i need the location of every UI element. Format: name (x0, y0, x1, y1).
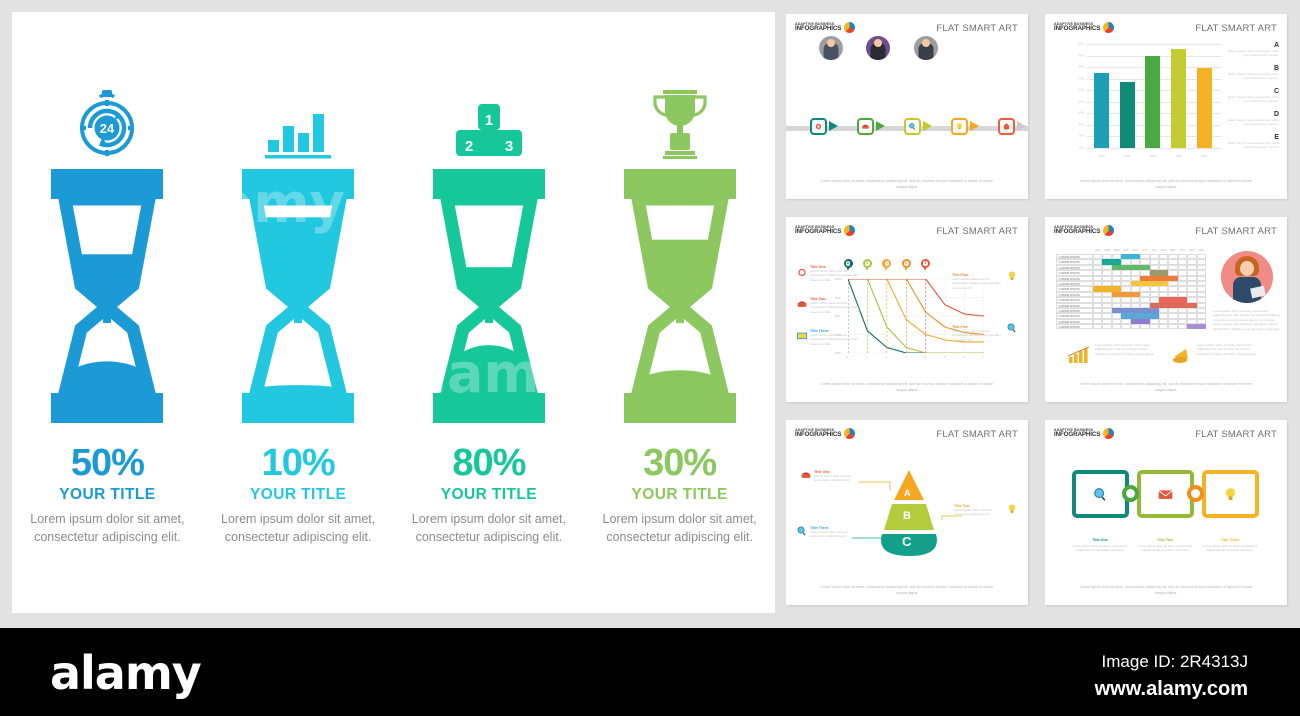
bar-ytick: 50% (1079, 100, 1084, 103)
brand-line-2: INFOGRAPHICS (795, 26, 841, 32)
line-xtick: 7 (983, 355, 985, 359)
monitor-icon (796, 329, 808, 341)
slide-footer: Lorem ipsum dolor sit amet, consectetur … (786, 382, 1028, 393)
hourglass-icon (614, 167, 746, 425)
slide-footer: Lorem ipsum dolor sit amet, consectetur … (786, 585, 1028, 596)
process-item (849, 145, 889, 147)
brand-logo: ADAPTIVE BUSINESS INFOGRAPHICS (795, 22, 855, 33)
podium-icon: 1 2 3 (454, 102, 524, 160)
stopwatch-24h-icon: 24 (76, 88, 138, 160)
item-body: Lorem ipsum dolor sit amet consectetur a… (810, 333, 862, 346)
thumbnail-process[interactable]: ADAPTIVE BUSINESS INFOGRAPHICS FLAT SMAR… (786, 14, 1028, 199)
stat-cell-4: 30% YOUR TITLE Lorem ipsum dolor sit ame… (584, 444, 775, 546)
hourglass-cell-1 (12, 167, 203, 429)
bar (1197, 68, 1212, 148)
legend-letter: E (1223, 134, 1279, 141)
process-node-C[interactable] (904, 118, 921, 135)
slide-footer: Lorem ipsum dolor sit amet, consectetur … (786, 179, 1028, 190)
brand-line-2: INFOGRAPHICS (1054, 432, 1100, 438)
process-arrow (829, 121, 838, 131)
brand-logo: ADAPTIVE BUSINESS INFOGRAPHICS (1054, 225, 1114, 236)
bar (1120, 82, 1135, 148)
gantt-cell (1197, 324, 1206, 329)
footer-bar: alamy Image ID: 2R4313J www.alamy.com (0, 628, 1300, 716)
gantt-cell (1140, 324, 1149, 329)
icon-cell-2 (203, 60, 394, 160)
process-node-E[interactable] (998, 118, 1015, 135)
box-connector-ring (1187, 485, 1204, 502)
stat-percent: 50% (20, 444, 195, 484)
slide-header: FLAT SMART ART (1195, 23, 1277, 34)
hourglass-icon (232, 167, 364, 425)
legend-body: Etiam rhoncus maecenas tempus, tellus eg… (1223, 95, 1279, 103)
legend-letter: C (1223, 88, 1279, 95)
pyramid-connectors (786, 420, 1028, 605)
map-pin-E[interactable]: E (921, 259, 930, 271)
brand-logo: ADAPTIVE BUSINESS INFOGRAPHICS (1054, 428, 1114, 439)
thumbnail-gantt[interactable]: ADAPTIVE BUSINESS INFOGRAPHICS FLAT SMAR… (1045, 217, 1287, 402)
box-body: Lorem ipsum dolor sit amet, consectetur … (1133, 544, 1197, 553)
box-2[interactable] (1137, 470, 1194, 518)
bar-ytick: 40% (1079, 112, 1084, 115)
legend-body: Etiam rhoncus maecenas tempus, tellus eg… (1223, 141, 1279, 149)
megaphone-icon (1171, 345, 1193, 365)
thumbnail-pyramid[interactable]: ADAPTIVE BUSINESS INFOGRAPHICS FLAT SMAR… (786, 420, 1028, 605)
brand-logo: ADAPTIVE BUSINESS INFOGRAPHICS (795, 225, 855, 236)
hourglass-row (12, 167, 775, 429)
gantt-cell (1112, 324, 1121, 329)
icon-cell-3: 1 2 3 (394, 60, 585, 160)
legend-item: BEtiam rhoncus maecenas tempus, tellus e… (1223, 65, 1279, 80)
slide-footer: Lorem ipsum dolor sit amet, consectetur … (1045, 179, 1287, 190)
stat-body: Lorem ipsum dolor sit amet, consectetur … (402, 511, 577, 547)
map-pin-B[interactable]: B (863, 259, 872, 271)
stat-title: YOUR TITLE (592, 486, 767, 504)
stat-cell-3: 80% YOUR TITLE Lorem ipsum dolor sit ame… (394, 444, 585, 546)
gantt-row-label: LOREM IPSUM (1056, 324, 1093, 329)
box-caption: Title OneLorem ipsum dolor sit amet, con… (1068, 538, 1132, 553)
gantt-cell (1131, 324, 1140, 329)
avatar (866, 36, 890, 60)
bar-xtick: 2015 (1145, 155, 1160, 158)
legend-item: EEtiam rhoncus maecenas tempus, tellus e… (1223, 134, 1279, 149)
slide-header: FLAT SMART ART (936, 226, 1018, 237)
line-right-item: Title FourLorem ipsum dolor sit amet con… (952, 273, 1004, 290)
legend-letter: A (1223, 42, 1279, 49)
bar-chart-bars (1089, 44, 1217, 148)
hourglass-cell-2 (203, 167, 394, 429)
bar-chart-xlabels: 20132014201520162017 (1089, 155, 1217, 158)
gantt-cell (1121, 324, 1130, 329)
avatar (1221, 251, 1273, 303)
box-1[interactable] (1072, 470, 1129, 518)
pie-chart-logo-icon (844, 22, 855, 33)
item-body: Lorem ipsum dolor sit amet consectetur a… (952, 329, 1004, 342)
bar-ytick: 10% (1079, 147, 1084, 150)
process-item (802, 145, 842, 147)
legend-item: CEtiam rhoncus maecenas tempus, tellus e… (1223, 88, 1279, 103)
telephone-icon (796, 297, 808, 309)
avatar (819, 36, 843, 60)
hourglass-icon (41, 167, 173, 425)
pie-chart-logo-icon (844, 225, 855, 236)
pie-chart-logo-icon (1103, 22, 1114, 33)
hourglass-icon (423, 167, 555, 425)
bar-ytick: 30% (1079, 123, 1084, 126)
person-body: Lorem ipsum dolor sit amet, consectetur … (1213, 309, 1281, 331)
gantt-cell (1178, 324, 1187, 329)
box-body: Lorem ipsum dolor sit amet, consectetur … (1198, 544, 1262, 553)
legend-item: AEtiam rhoncus maecenas tempus, tellus e… (1223, 42, 1279, 57)
note-body: Lorem ipsum dolor sit amet, consectetur … (1095, 343, 1157, 356)
line-xtick: 6 (963, 355, 965, 359)
box-caption: Title TwoLorem ipsum dolor sit amet, con… (1133, 538, 1197, 553)
gantt-cell (1150, 324, 1159, 329)
slide-footer: Lorem ipsum dolor sit amet, consectetur … (1045, 382, 1287, 393)
stat-percent: 30% (592, 444, 767, 484)
thumbnail-boxes[interactable]: ADAPTIVE BUSINESS INFOGRAPHICS FLAT SMAR… (1045, 420, 1287, 605)
lightbulb-icon (1006, 269, 1018, 281)
stat-text-row: 50% YOUR TITLE Lorem ipsum dolor sit ame… (12, 444, 775, 546)
stat-title: YOUR TITLE (211, 486, 386, 504)
image-id: Image ID: 2R4313J (1095, 650, 1248, 675)
line-xtick: 2 (885, 355, 887, 359)
box-3[interactable] (1202, 470, 1259, 518)
process-arrow (923, 121, 932, 131)
podium-label-3: 3 (505, 138, 513, 155)
bar-ytick: 70% (1079, 77, 1084, 80)
icon-row: 24 1 2 3 (12, 60, 775, 160)
podium-label-1: 1 (485, 112, 493, 129)
main-slide-panel: 24 1 2 3 (12, 12, 775, 613)
legend-body: Etiam rhoncus maecenas tempus, tellus eg… (1223, 49, 1279, 57)
stat-body: Lorem ipsum dolor sit amet, consectetur … (211, 511, 386, 547)
gantt-table: JANFEBMARAPRMAYJUNJULAUGSEPOCTNOVDECLORE… (1056, 248, 1206, 329)
line-left-item: Title OneLorem ipsum dolor sit amet cons… (810, 265, 862, 282)
process-node-A[interactable] (810, 118, 827, 135)
thumbnail-bar-chart[interactable]: ADAPTIVE BUSINESS INFOGRAPHICS FLAT SMAR… (1045, 14, 1287, 199)
line-right-item: Title FiveLorem ipsum dolor sit amet con… (952, 325, 1004, 342)
line-xtick: 1 (866, 355, 868, 359)
brand-logo: ADAPTIVE BUSINESS INFOGRAPHICS (1054, 22, 1114, 33)
alarm-clock-icon (796, 265, 808, 277)
bar-chart-icon (265, 108, 331, 160)
legend-body: Etiam rhoncus maecenas tempus, tellus eg… (1223, 72, 1279, 80)
gantt-row: LOREM IPSUM (1056, 324, 1206, 329)
gantt-cell (1159, 324, 1168, 329)
line-ytick: 60% (835, 351, 841, 355)
bar-xtick: 2017 (1197, 155, 1212, 158)
stat-percent: 80% (402, 444, 577, 484)
stat-cell-2: 10% YOUR TITLE Lorem ipsum dolor sit ame… (203, 444, 394, 546)
stat-percent: 10% (211, 444, 386, 484)
stat-title: YOUR TITLE (20, 486, 195, 504)
line-ytick: 80% (835, 314, 841, 318)
stopwatch-label: 24 (100, 121, 115, 136)
gantt-cell (1168, 324, 1177, 329)
icon-cell-4 (584, 60, 775, 160)
avatar (914, 36, 938, 60)
slide-header: FLAT SMART ART (1195, 226, 1277, 237)
gantt-cell (1187, 324, 1196, 329)
bar-ytick: 80% (1079, 66, 1084, 69)
brand-line-2: INFOGRAPHICS (1054, 26, 1100, 32)
item-body: Lorem ipsum dolor sit amet consectetur a… (810, 301, 862, 314)
process-arrow (1017, 121, 1026, 131)
stat-body: Lorem ipsum dolor sit amet, consectetur … (20, 511, 195, 547)
trophy-icon (649, 88, 711, 160)
process-item (990, 145, 1028, 147)
slide-header: FLAT SMART ART (936, 23, 1018, 34)
legend-body: Etiam rhoncus maecenas tempus, tellus eg… (1223, 118, 1279, 126)
legend-letter: B (1223, 65, 1279, 72)
process-node-D[interactable] (951, 118, 968, 135)
legend-letter: D (1223, 111, 1279, 118)
bar (1094, 73, 1109, 148)
process-arrow (970, 121, 979, 131)
bar (1145, 56, 1160, 148)
separator-band (0, 613, 1300, 628)
item-body: Lorem ipsum dolor sit amet consectetur a… (810, 269, 862, 282)
page-root: 24 1 2 3 (0, 0, 1300, 716)
process-arrow (876, 121, 885, 131)
hourglass-cell-4 (584, 167, 775, 429)
stat-cell-1: 50% YOUR TITLE Lorem ipsum dolor sit ame… (12, 444, 203, 546)
bar-xtick: 2013 (1094, 155, 1109, 158)
process-item (896, 145, 936, 147)
line-xtick: 4 (924, 355, 926, 359)
box-connector-ring (1122, 485, 1139, 502)
line-xtick: 0 (847, 355, 849, 359)
legend-item: DEtiam rhoncus maecenas tempus, tellus e… (1223, 111, 1279, 126)
stat-title: YOUR TITLE (402, 486, 577, 504)
brand-line-2: INFOGRAPHICS (795, 229, 841, 235)
box-body: Lorem ipsum dolor sit amet, consectetur … (1068, 544, 1132, 553)
alamy-logo: alamy (50, 646, 201, 700)
hourglass-cell-3 (394, 167, 585, 429)
pie-chart-logo-icon (1103, 428, 1114, 439)
stat-body: Lorem ipsum dolor sit amet, consectetur … (592, 511, 767, 547)
icon-cell-1: 24 (12, 60, 203, 160)
brand-line-2: INFOGRAPHICS (1054, 229, 1100, 235)
process-node-B[interactable] (857, 118, 874, 135)
podium-label-2: 2 (465, 138, 473, 155)
bar-ytick: 20% (1079, 135, 1084, 138)
thumbnail-line-chart[interactable]: ADAPTIVE BUSINESS INFOGRAPHICS FLAT SMAR… (786, 217, 1028, 402)
bar (1171, 49, 1186, 148)
magnifier-icon (1006, 321, 1018, 333)
bar-xtick: 2016 (1171, 155, 1186, 158)
growth-chart-icon (1067, 345, 1091, 365)
bar-chart-legend: AEtiam rhoncus maecenas tempus, tellus e… (1223, 42, 1279, 157)
bar-ytick: 90% (1079, 54, 1084, 57)
line-xtick: 3 (905, 355, 907, 359)
line-xtick: 5 (944, 355, 946, 359)
bar-ytick: 60% (1079, 89, 1084, 92)
box-caption: Title ThreeLorem ipsum dolor sit amet, c… (1198, 538, 1262, 553)
line-left-item: Title TwoLorem ipsum dolor sit amet cons… (810, 297, 862, 314)
bar-ytick: 100% (1077, 43, 1084, 46)
item-body: Lorem ipsum dolor sit amet consectetur a… (952, 277, 1004, 290)
note-body: Lorem ipsum dolor sit amet, consectetur … (1197, 343, 1259, 356)
slide-footer: Lorem ipsum dolor sit amet, consectetur … (1045, 585, 1287, 596)
bar-xtick: 2014 (1120, 155, 1135, 158)
process-item (943, 145, 983, 147)
slide-header: FLAT SMART ART (1195, 429, 1277, 440)
map-pin-D[interactable]: D (902, 259, 911, 271)
map-pin-C[interactable]: C (882, 259, 891, 271)
bar-chart: 100%90%80%70%60%50%40%30%20%10% 20132014… (1073, 44, 1221, 162)
gantt-cell (1093, 324, 1102, 329)
line-left-item: Title ThreeLorem ipsum dolor sit amet co… (810, 329, 862, 346)
site-url: www.alamy.com (1095, 675, 1248, 704)
pie-chart-logo-icon (1103, 225, 1114, 236)
gantt-cell (1102, 324, 1111, 329)
